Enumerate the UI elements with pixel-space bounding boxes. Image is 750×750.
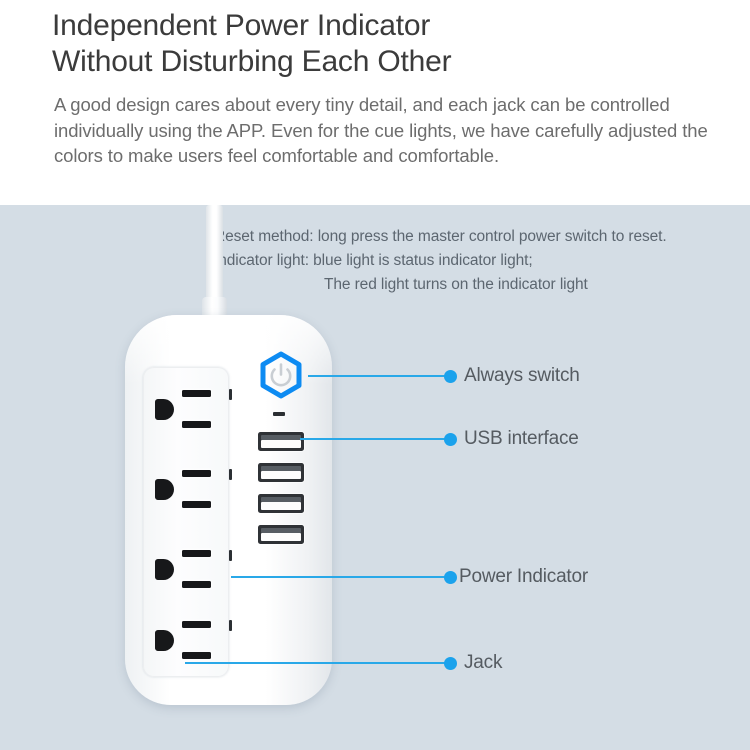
blade-slot	[182, 501, 211, 508]
power-symbol-icon	[272, 365, 290, 386]
callout-dot-always-switch	[444, 370, 457, 383]
callout-leader-line-always-switch	[308, 375, 450, 377]
header-section: Independent Power Indicator Without Dist…	[0, 0, 750, 205]
blade-slot	[182, 581, 211, 588]
instruction-line-indicator: Indicator light: blue light is status in…	[214, 252, 533, 269]
ac-outlet[interactable]	[151, 461, 225, 517]
callout-leader-line-jack	[185, 662, 450, 664]
ac-outlet[interactable]	[151, 612, 225, 668]
usb-port[interactable]	[258, 494, 304, 513]
ac-outlet[interactable]	[151, 541, 225, 597]
power-cable	[206, 205, 223, 303]
blade-slot	[182, 652, 211, 659]
callout-leader-line-power-indicator	[231, 576, 450, 578]
ac-outlet[interactable]	[151, 381, 225, 437]
usb-port[interactable]	[258, 525, 304, 544]
outlet-plate	[143, 367, 229, 677]
instruction-line-red-light: The red light turns on the indicator lig…	[214, 273, 744, 297]
callout-leader-line-usb-interface	[300, 438, 450, 440]
usb-port[interactable]	[258, 463, 304, 482]
blade-slot	[182, 390, 211, 397]
description-text: A good design cares about every tiny det…	[54, 92, 719, 169]
usb-tongue	[261, 533, 301, 541]
power-indicator-light	[229, 550, 232, 561]
instruction-line-reset: Reset method: long press the master cont…	[214, 228, 667, 245]
blade-slot	[182, 550, 211, 557]
master-power-button[interactable]	[257, 351, 305, 399]
callout-label-usb-interface: USB interface	[464, 428, 579, 450]
callout-dot-power-indicator	[444, 571, 457, 584]
usb-tongue	[261, 471, 301, 479]
instructions-block: Reset method: long press the master cont…	[214, 225, 744, 297]
callout-dot-jack	[444, 657, 457, 670]
power-strip-body	[125, 315, 332, 705]
usb-tongue	[261, 440, 301, 448]
power-indicator-light	[229, 469, 232, 480]
blade-slot	[182, 421, 211, 428]
blade-slot	[182, 470, 211, 477]
power-indicator-light	[229, 620, 232, 631]
blade-slot	[182, 621, 211, 628]
ground-pin-icon	[155, 630, 174, 651]
usb-port[interactable]	[258, 432, 304, 451]
ground-pin-icon	[155, 559, 174, 580]
page-title: Independent Power Indicator Without Dist…	[52, 8, 712, 80]
callout-label-always-switch: Always switch	[464, 365, 580, 387]
product-illustration-panel: Reset method: long press the master cont…	[0, 205, 750, 750]
power-indicator-light	[229, 389, 232, 400]
button-status-dash	[273, 412, 285, 416]
ground-pin-icon	[155, 399, 174, 420]
callout-label-power-indicator: Power Indicator	[459, 566, 588, 588]
callout-dot-usb-interface	[444, 433, 457, 446]
ground-pin-icon	[155, 479, 174, 500]
usb-tongue	[261, 502, 301, 510]
callout-label-jack: Jack	[464, 652, 502, 674]
